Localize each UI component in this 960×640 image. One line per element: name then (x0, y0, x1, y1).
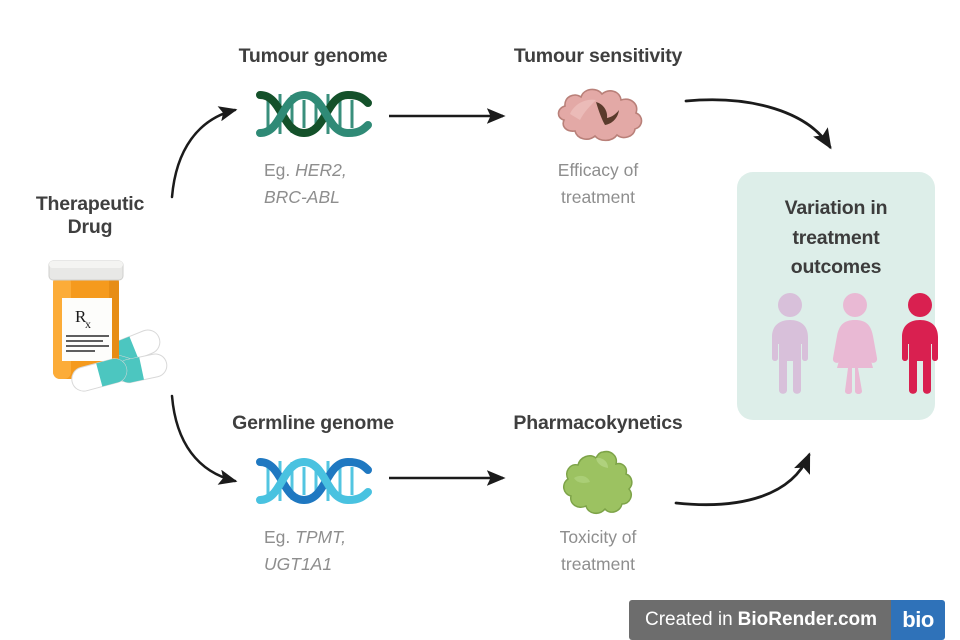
person-male-light (764, 292, 816, 396)
person-male-crimson (894, 292, 946, 396)
watermark-brand: BioRender.com (738, 609, 877, 631)
pharmacokynetics-caption-line2: treatment (561, 554, 635, 574)
arrow-pharmacokynetics-to-outcome (676, 455, 809, 505)
outcome-title-line2: treatment (792, 227, 879, 249)
therapeutic-drug-line2: Drug (68, 216, 113, 238)
node-heading-pharmacokynetics: Pharmacokynetics (478, 412, 718, 435)
node-caption-germline-genome: Eg. TPMT, UGT1A1 (264, 524, 454, 577)
watermark-text: Created inBioRender.com (629, 600, 891, 640)
node-caption-tumour-genome: Eg. HER2, BRC-ABL (264, 157, 454, 210)
arrow-drug-to-tumour-genome (172, 110, 235, 197)
protein-blob-icon (556, 448, 648, 522)
watermark-prefix: Created in (645, 609, 733, 631)
pharmacokynetics-caption-line1: Toxicity of (560, 527, 637, 547)
therapeutic-drug-line1: Therapeutic (36, 193, 144, 215)
node-heading-tumour-genome: Tumour genome (193, 45, 433, 68)
people-group (737, 292, 935, 396)
germline-genome-eg-prefix: Eg. (264, 527, 295, 547)
outcome-box: Variation in treatment outcomes (737, 172, 935, 420)
tumour-genome-eg-prefix: Eg. (264, 160, 295, 180)
person-female-pink (829, 292, 881, 396)
outcome-title: Variation in treatment outcomes (737, 194, 935, 283)
node-caption-tumour-sensitivity: Efficacy of treatment (498, 157, 698, 210)
arrow-sensitivity-to-outcome (686, 100, 830, 147)
node-caption-pharmacokynetics: Toxicity of treatment (498, 524, 698, 577)
node-heading-germline-genome: Germline genome (191, 412, 435, 435)
tumour-sensitivity-caption-line1: Efficacy of (558, 160, 638, 180)
tumour-sensitivity-caption-line2: treatment (561, 187, 635, 207)
biorender-logo-icon: bio (891, 600, 945, 640)
tumour-genome-gene2: BRC-ABL (264, 187, 340, 207)
germline-genome-gene2: UGT1A1 (264, 554, 332, 574)
germline-genome-gene1: TPMT, (295, 527, 346, 547)
node-heading-tumour-sensitivity: Tumour sensitivity (478, 45, 718, 68)
pill-bottle-icon: R x (33, 252, 168, 392)
svg-text:x: x (85, 317, 91, 331)
outcome-title-line3: outcomes (791, 256, 882, 278)
node-label-therapeutic-drug: Therapeutic Drug (0, 193, 180, 240)
diagram-canvas: R x Therapeutic Drug Tumour genome (0, 0, 960, 640)
tumour-genome-gene1: HER2, (295, 160, 347, 180)
biorender-watermark: Created inBioRender.com bio (629, 600, 945, 640)
dna-helix-blue-icon (252, 450, 374, 512)
outcome-title-line1: Variation in (785, 197, 888, 219)
tumour-blob-icon (550, 84, 650, 146)
dna-helix-green-icon (252, 83, 374, 145)
arrow-drug-to-germline-genome (172, 396, 235, 481)
